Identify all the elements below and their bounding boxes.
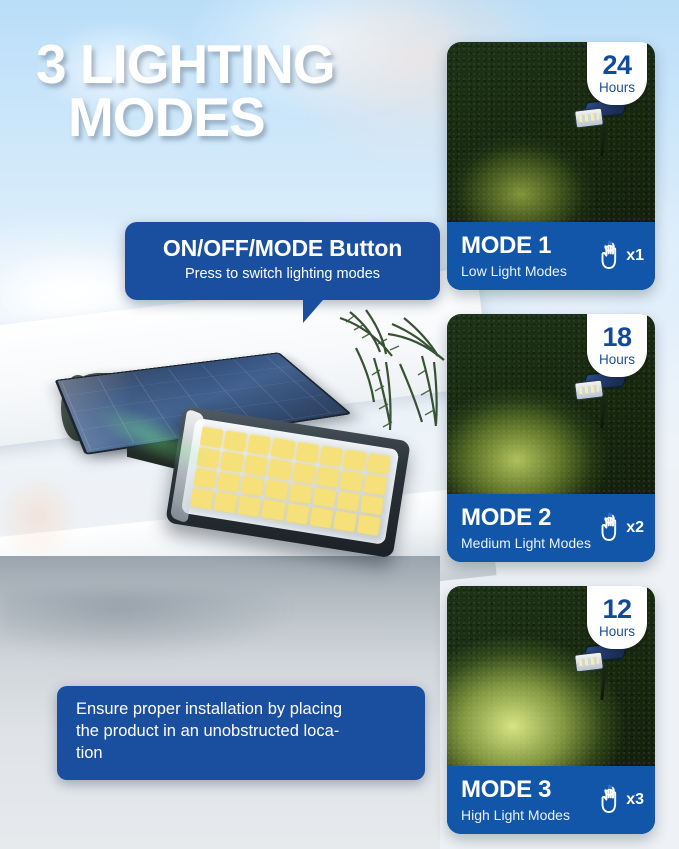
installation-note-line-1: Ensure proper installation by placing (76, 699, 406, 721)
press-indicator-3: x3 (597, 782, 655, 819)
runtime-hours-unit: Hours (599, 625, 635, 639)
callout-pointer-tail (303, 293, 329, 323)
mini-solar-lamp-3 (575, 644, 623, 700)
hand-tap-icon (597, 238, 625, 275)
installation-note-line-2: the product in an unobstructed loca- (76, 721, 406, 743)
hand-tap-icon (597, 782, 625, 819)
mode-title-1: MODE 1 (461, 234, 597, 258)
mini-solar-lamp-2 (575, 372, 623, 428)
mode-subtitle-2: Medium Light Modes (461, 536, 597, 550)
mini-solar-lamp-1 (575, 100, 623, 156)
led-head (165, 406, 411, 559)
headline-line-2: MODES (36, 91, 426, 144)
product-infographic: 3 LIGHTING MODES ON/OFF/MODE Button Pres… (0, 0, 679, 849)
press-indicator-2: x2 (597, 510, 655, 547)
page-title: 3 LIGHTING MODES (36, 38, 426, 144)
press-count-1: x1 (626, 247, 644, 265)
runtime-badge-2: 18 Hours (587, 314, 647, 377)
mode-card-1[interactable]: 24 Hours MODE 1 Low Light Modes (447, 42, 655, 290)
mode-button-callout-title: ON/OFF/MODE Button (135, 236, 430, 261)
installation-note-callout: Ensure proper installation by placing th… (57, 686, 425, 780)
mode-card-2[interactable]: 18 Hours MODE 2 Medium Light Modes (447, 314, 655, 562)
mode-button-callout-subtitle: Press to switch lighting modes (135, 266, 430, 283)
runtime-hours-value: 18 (602, 324, 631, 351)
mini-led-head (574, 379, 604, 400)
mode-button-callout: ON/OFF/MODE Button Press to switch light… (125, 222, 440, 300)
mini-led-head (574, 651, 604, 672)
runtime-hours-unit: Hours (599, 81, 635, 95)
mode-subtitle-3: High Light Modes (461, 808, 597, 822)
hand-tap-icon (597, 510, 625, 547)
runtime-hours-unit: Hours (599, 353, 635, 367)
mode-title-2: MODE 2 (461, 506, 597, 530)
mode-footer-text-1: MODE 1 Low Light Modes (447, 234, 597, 278)
mode-title-3: MODE 3 (461, 778, 597, 802)
mini-led-head (574, 107, 604, 128)
mode-footer-text-2: MODE 2 Medium Light Modes (447, 506, 597, 550)
mode-footer-3: MODE 3 High Light Modes x3 (447, 766, 655, 834)
mode-footer-2: MODE 2 Medium Light Modes x2 (447, 494, 655, 562)
press-count-3: x3 (626, 791, 644, 809)
press-indicator-1: x1 (597, 238, 655, 275)
runtime-badge-1: 24 Hours (587, 42, 647, 105)
mode-cards-column: 24 Hours MODE 1 Low Light Modes (447, 42, 655, 832)
mode-card-3[interactable]: 12 Hours MODE 3 High Light Modes (447, 586, 655, 834)
installation-note-line-3: tion (76, 743, 406, 765)
press-count-2: x2 (626, 519, 644, 537)
runtime-badge-3: 12 Hours (587, 586, 647, 649)
mode-footer-1: MODE 1 Low Light Modes x1 (447, 222, 655, 290)
mode-footer-text-3: MODE 3 High Light Modes (447, 778, 597, 822)
solar-wall-light-product (55, 295, 435, 595)
runtime-hours-value: 12 (602, 596, 631, 623)
runtime-hours-value: 24 (602, 52, 631, 79)
mode-subtitle-1: Low Light Modes (461, 264, 597, 278)
